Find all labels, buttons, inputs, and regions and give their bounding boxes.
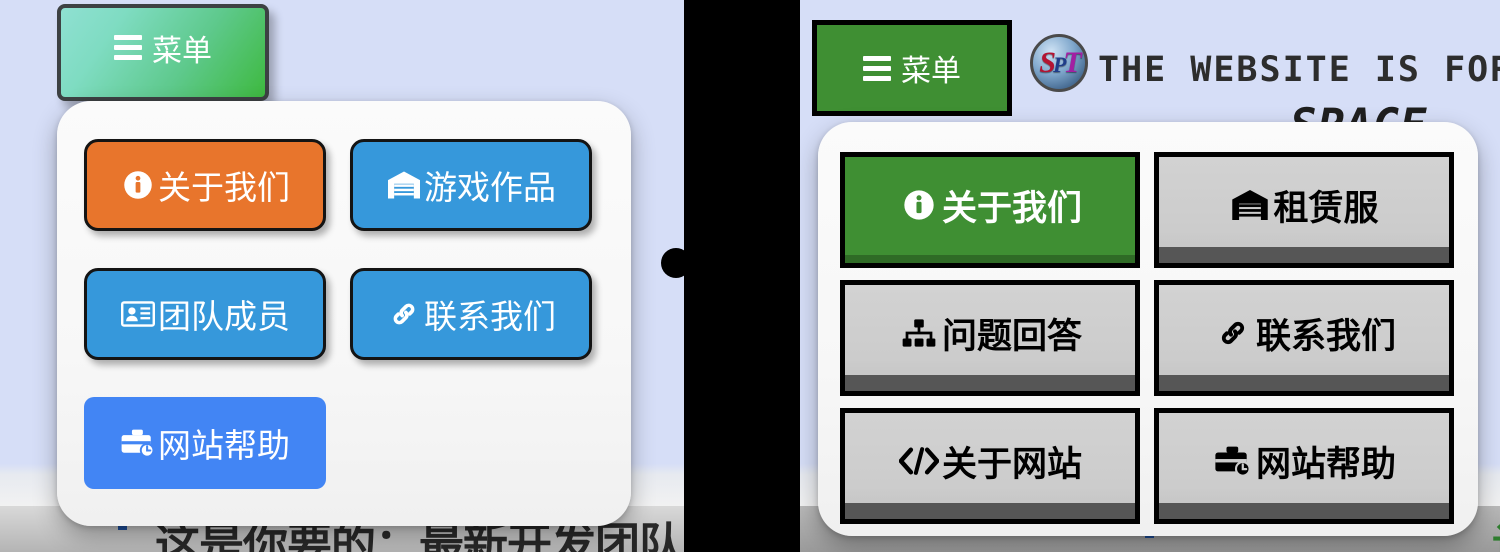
left-menu-toggle-label: 菜单 bbox=[152, 26, 212, 70]
left-dropdown-panel: 关于我们 游戏作品 团队成员 bbox=[57, 101, 631, 526]
hamburger-icon bbox=[114, 35, 142, 60]
menu-item-label: 关于网站 bbox=[942, 436, 1082, 487]
menu-item-rental-service[interactable]: 租赁服 bbox=[1154, 152, 1454, 268]
warehouse-icon bbox=[386, 168, 422, 202]
info-circle-icon bbox=[120, 168, 156, 202]
menu-item-label: 联系我们 bbox=[424, 290, 556, 338]
comparison-stage: p-test 这是你要的：最新开发团队 菜单 关于我们 游戏 bbox=[0, 0, 1500, 552]
sitemap-icon bbox=[898, 314, 940, 352]
hamburger-icon bbox=[863, 56, 891, 81]
right-menu-grid: 关于我们 租赁服 问题回答 bbox=[840, 152, 1478, 536]
menu-item-label: 网站帮助 bbox=[1256, 436, 1396, 487]
right-panel: 认 SPT THE WEBSITE IS FOR SPACE 菜单 关于我们 bbox=[800, 0, 1500, 552]
divider-arrow-tail bbox=[661, 248, 691, 278]
info-circle-icon bbox=[898, 186, 940, 224]
menu-item-label: 团队成员 bbox=[158, 290, 290, 338]
menu-item-label: 关于我们 bbox=[158, 161, 290, 209]
site-logo: SPT bbox=[1030, 34, 1088, 92]
menu-item-label: 游戏作品 bbox=[424, 161, 556, 209]
warehouse-icon bbox=[1229, 186, 1271, 224]
menu-item-site-help[interactable]: 网站帮助 bbox=[84, 397, 326, 489]
right-menu-toggle-button[interactable]: 菜单 bbox=[812, 20, 1012, 116]
briefcase-clock-icon bbox=[120, 426, 156, 460]
logo-letters: SPT bbox=[1039, 48, 1078, 78]
menu-item-about-us[interactable]: 关于我们 bbox=[84, 139, 326, 231]
menu-item-about-us[interactable]: 关于我们 bbox=[840, 152, 1140, 268]
menu-item-contact-us[interactable]: 联系我们 bbox=[1154, 280, 1454, 396]
header-title-line1: THE WEBSITE IS FOR bbox=[1098, 50, 1500, 90]
menu-item-game-works[interactable]: 游戏作品 bbox=[350, 139, 592, 231]
left-panel: p-test 这是你要的：最新开发团队 菜单 关于我们 游戏 bbox=[0, 0, 684, 552]
menu-item-label: 网站帮助 bbox=[158, 419, 290, 467]
menu-item-faq[interactable]: 问题回答 bbox=[840, 280, 1140, 396]
link-icon bbox=[386, 297, 422, 331]
menu-item-label: 问题回答 bbox=[942, 308, 1082, 359]
menu-item-label: 关于我们 bbox=[942, 180, 1082, 231]
menu-item-label: 租赁服 bbox=[1273, 180, 1378, 231]
menu-item-about-site[interactable]: 关于网站 bbox=[840, 408, 1140, 524]
id-card-icon bbox=[120, 297, 156, 331]
right-menu-toggle-label: 菜单 bbox=[901, 46, 961, 90]
menu-item-site-help[interactable]: 网站帮助 bbox=[1154, 408, 1454, 524]
left-menu-grid: 关于我们 游戏作品 团队成员 bbox=[84, 139, 631, 526]
menu-item-team-members[interactable]: 团队成员 bbox=[84, 268, 326, 360]
code-icon bbox=[898, 442, 940, 480]
menu-item-label: 联系我们 bbox=[1256, 308, 1396, 359]
left-menu-toggle-button[interactable]: 菜单 bbox=[57, 4, 269, 101]
briefcase-clock-icon bbox=[1212, 442, 1254, 480]
menu-item-contact-us[interactable]: 联系我们 bbox=[350, 268, 592, 360]
link-icon bbox=[1212, 314, 1254, 352]
right-dropdown-panel: 关于我们 租赁服 问题回答 bbox=[818, 122, 1478, 536]
